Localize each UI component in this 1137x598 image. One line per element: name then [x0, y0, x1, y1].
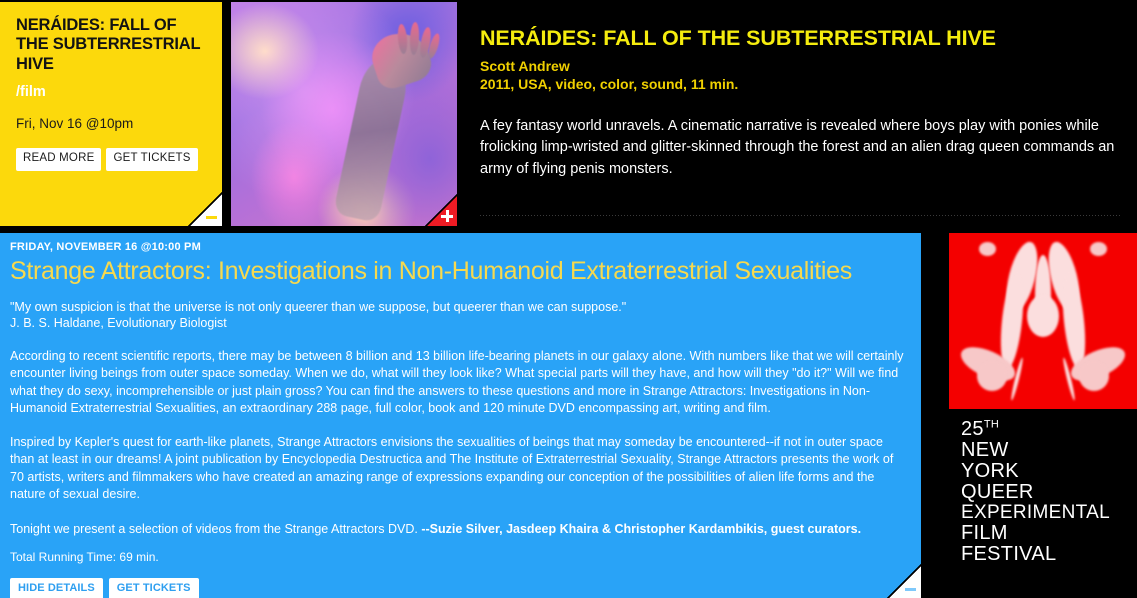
film-detail-panel: NERÁIDES: FALL OF THE SUBTERRESTRIAL HIV…: [462, 0, 1137, 230]
film-detail-description: A fey fantasy world unravels. A cinemati…: [480, 116, 1120, 180]
hide-details-button[interactable]: HIDE DETAILS: [10, 578, 103, 598]
poster-line-4: QUEER: [961, 482, 1137, 502]
program-title: Strange Attractors: Investigations in No…: [10, 258, 907, 286]
event-card-datetime: Fri, Nov 16 @10pm: [16, 116, 208, 131]
program-collapse-corner-toggle[interactable]: [887, 564, 921, 598]
program-running-time: Total Running Time: 69 min.: [10, 550, 907, 564]
poster-line-2: NEW: [961, 440, 1137, 460]
curators-names: --Suzie Silver, Jasdeep Khaira & Christo…: [421, 522, 861, 536]
inkblot-shape: [997, 272, 1027, 370]
read-more-button[interactable]: READ MORE: [16, 148, 101, 171]
film-detail-title: NERÁIDES: FALL OF THE SUBTERRESTRIAL HIV…: [480, 27, 1125, 51]
program-date-line: FRIDAY, NOVEMBER 16 @10:00 PM: [10, 241, 907, 253]
program-quote: "My own suspicion is that the universe i…: [10, 299, 907, 332]
poster-line-7: FESTIVAL: [961, 544, 1137, 564]
film-detail-artist: Scott Andrew: [480, 58, 1125, 76]
minus-icon: [206, 216, 217, 219]
minus-icon: [905, 588, 916, 591]
poster-title-block: 25TH NEW YORK QUEER EXPERIMENTAL FILM FE…: [949, 409, 1137, 564]
poster-line-6: FILM: [961, 523, 1137, 543]
collapse-corner-toggle[interactable]: [188, 192, 222, 226]
program-paragraph-2: Inspired by Kepler's quest for earth-lik…: [10, 434, 907, 503]
poster-line-3: YORK: [961, 461, 1137, 481]
get-tickets-button[interactable]: GET TICKETS: [106, 148, 197, 171]
film-detail-credits: 2011, USA, video, color, sound, 11 min.: [480, 76, 1125, 94]
event-card-category[interactable]: /film: [16, 85, 208, 100]
top-row: NERÁIDES: FALL OF THE SUBTERRESTRIAL HIV…: [0, 0, 1137, 230]
festival-listing-page: NERÁIDES: FALL OF THE SUBTERRESTRIAL HIV…: [0, 0, 1137, 598]
program-paragraph-1: According to recent scientific reports, …: [10, 348, 907, 417]
inkblot-center-shape: [1027, 295, 1059, 337]
festival-poster[interactable]: 25TH NEW YORK QUEER EXPERIMENTAL FILM FE…: [949, 233, 1137, 598]
inkblot-dot: [1090, 242, 1107, 256]
program-actions: HIDE DETAILS GET TICKETS: [10, 578, 907, 598]
program-panel-strange-attractors: FRIDAY, NOVEMBER 16 @10:00 PM Strange At…: [0, 233, 921, 598]
plus-icon: [441, 210, 453, 222]
poster-line-1: 25TH: [961, 419, 1137, 439]
tonight-intro-text: Tonight we present a selection of videos…: [10, 522, 421, 536]
quote-text: "My own suspicion is that the universe i…: [10, 300, 626, 314]
poster-edition-number: 25: [961, 418, 984, 440]
poster-edition-suffix: TH: [984, 418, 999, 430]
event-card-actions: READ MORE GET TICKETS: [16, 148, 208, 171]
inkblot-claw-shape: [1079, 361, 1109, 391]
expand-corner-toggle[interactable]: [425, 194, 457, 226]
inkblot-claw-shape: [977, 361, 1007, 391]
film-still-thumbnail[interactable]: [231, 2, 457, 226]
program-get-tickets-button[interactable]: GET TICKETS: [109, 578, 199, 598]
poster-line-5: EXPERIMENTAL: [961, 503, 1137, 522]
inkblot-dot: [979, 242, 996, 256]
detail-divider: [480, 215, 1120, 216]
poster-artwork: [949, 233, 1137, 409]
event-card-neraides[interactable]: NERÁIDES: FALL OF THE SUBTERRESTRIAL HIV…: [0, 2, 222, 226]
program-curators-line: Tonight we present a selection of videos…: [10, 521, 907, 538]
event-card-title: NERÁIDES: FALL OF THE SUBTERRESTRIAL HIV…: [16, 16, 208, 74]
quote-attribution: J. B. S. Haldane, Evolutionary Biologist: [10, 315, 907, 331]
